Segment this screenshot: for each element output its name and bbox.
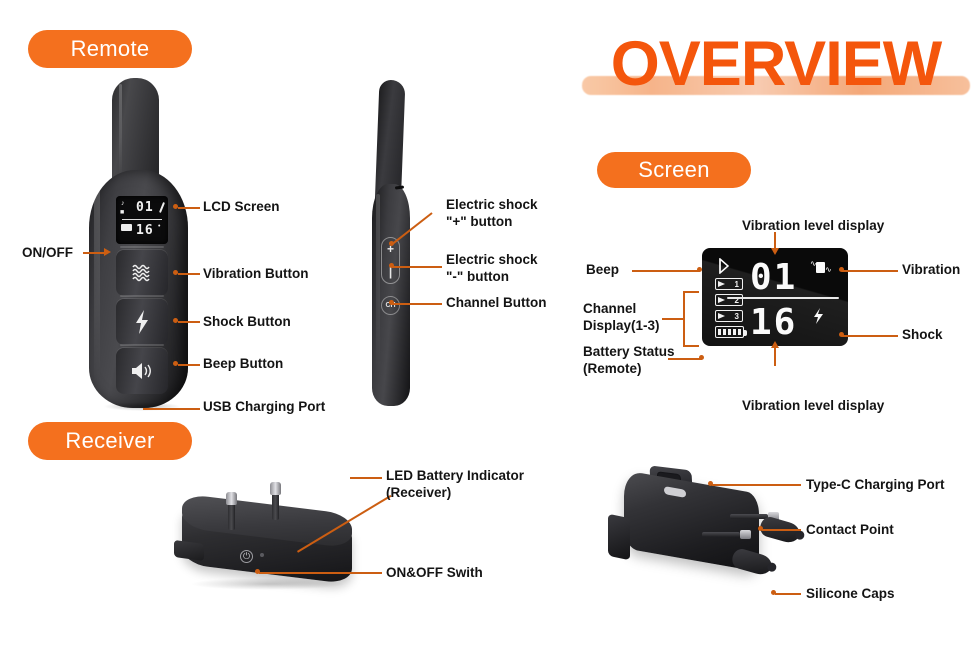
connector-dot bbox=[389, 263, 394, 268]
contact-prong-2 bbox=[270, 482, 281, 518]
connector-channel-bracket bbox=[683, 291, 685, 347]
connector-lcd-screen bbox=[178, 207, 200, 209]
connector-on-off-switch bbox=[259, 572, 382, 574]
remote-side-body bbox=[372, 184, 410, 406]
label-shock-minus-line1: Electric shock bbox=[446, 252, 538, 268]
lightning-bolt-icon bbox=[133, 309, 151, 335]
connector-type-c-port bbox=[712, 484, 801, 486]
overview-headline: OVERVIEW bbox=[580, 28, 972, 100]
connector-dot bbox=[173, 204, 178, 209]
connector-vibration-bottom bbox=[774, 346, 776, 366]
connector-on-off bbox=[83, 252, 105, 254]
label-on-off: ON/OFF bbox=[22, 245, 73, 261]
connector-dot bbox=[173, 361, 178, 366]
receiver-left-illustration: ⏻ bbox=[160, 470, 375, 605]
connector-silicone-caps bbox=[775, 593, 801, 595]
label-led-battery-line1: LED Battery Indicator bbox=[386, 468, 524, 484]
speaker-icon bbox=[129, 360, 155, 382]
connector-usb-port bbox=[143, 408, 200, 410]
receiver-strap-clip bbox=[174, 540, 204, 561]
connector-channel-button bbox=[392, 303, 442, 305]
connector-channel-bottom bbox=[683, 345, 699, 347]
channel-button[interactable]: CH bbox=[381, 296, 400, 315]
label-shock: Shock bbox=[902, 327, 943, 343]
silicone-cap-2 bbox=[730, 547, 774, 577]
label-vibration-level-top: Vibration level display bbox=[742, 218, 884, 234]
contact-prong-1 bbox=[226, 492, 237, 528]
label-silicone-caps: Silicone Caps bbox=[806, 586, 895, 602]
label-vibration: Vibration bbox=[902, 262, 960, 278]
connector-beep-button bbox=[178, 364, 200, 366]
beep-button[interactable] bbox=[116, 348, 168, 394]
power-button-icon[interactable]: ⏻ bbox=[240, 550, 253, 563]
receiver-right-strap-clip bbox=[608, 514, 630, 561]
label-battery-status-line2: (Remote) bbox=[583, 361, 642, 377]
lcd-display-diagram: 1 2 3 01 16 ∿ ∿ bbox=[702, 248, 848, 346]
label-beep-button: Beep Button bbox=[203, 356, 283, 372]
connector-dot bbox=[708, 481, 713, 486]
label-battery-status-line1: Battery Status bbox=[583, 344, 675, 360]
label-type-c-port: Type-C Charging Port bbox=[806, 477, 945, 493]
label-usb-port: USB Charging Port bbox=[203, 399, 325, 415]
page-title: OVERVIEW bbox=[580, 28, 972, 100]
label-on-off-switch: ON&OFF Swith bbox=[386, 565, 483, 581]
label-shock-plus-line2: "+" button bbox=[446, 214, 512, 230]
connector-led-battery-h bbox=[350, 477, 382, 479]
section-pill-receiver-label: Receiver bbox=[65, 428, 154, 454]
section-pill-screen: Screen bbox=[597, 152, 751, 188]
remote-lcd-top-value: 01 bbox=[136, 200, 154, 215]
connector-dot bbox=[389, 300, 394, 305]
vibration-icon bbox=[131, 262, 153, 284]
label-shock-minus-line2: "-" button bbox=[446, 269, 509, 285]
connector-dot bbox=[839, 332, 844, 337]
label-vibration-button: Vibration Button bbox=[203, 266, 309, 282]
connector-dot bbox=[389, 241, 394, 246]
label-channel-display-line2: Display(1-3) bbox=[583, 318, 660, 334]
contact-point-2 bbox=[702, 530, 752, 539]
connector-dot bbox=[758, 526, 763, 531]
label-channel-display-line1: Channel bbox=[583, 301, 636, 317]
label-beep: Beep bbox=[586, 262, 619, 278]
label-lcd-screen: LCD Screen bbox=[203, 199, 280, 215]
connector-arrow bbox=[104, 248, 111, 256]
label-shock-button: Shock Button bbox=[203, 314, 291, 330]
connector-shock-button bbox=[178, 321, 200, 323]
connector-arrow bbox=[771, 248, 779, 255]
connector-arrow bbox=[771, 341, 779, 348]
connector-shock-minus bbox=[392, 266, 442, 268]
connector-vibration-right bbox=[842, 270, 898, 272]
label-shock-plus-line1: Electric shock bbox=[446, 197, 538, 213]
connector-dot bbox=[839, 267, 844, 272]
connector-vibration-button bbox=[178, 273, 200, 275]
connector-contact-point bbox=[762, 529, 801, 531]
shock-button[interactable] bbox=[116, 299, 168, 345]
connector-shock-right bbox=[842, 335, 898, 337]
led-indicator bbox=[260, 553, 264, 557]
remote-front-illustration: ♪ ■ 01 16 • bbox=[83, 78, 193, 408]
section-pill-remote-label: Remote bbox=[71, 36, 150, 62]
connector-dot bbox=[173, 318, 178, 323]
connector-channel-stem bbox=[662, 318, 683, 320]
section-pill-screen-label: Screen bbox=[638, 157, 710, 183]
connector-beep bbox=[632, 270, 700, 272]
connector-dot bbox=[699, 355, 704, 360]
section-pill-receiver: Receiver bbox=[28, 422, 192, 460]
receiver-right-illustration bbox=[602, 462, 832, 602]
label-vibration-level-bottom: Vibration level display bbox=[742, 398, 884, 414]
connector-dot bbox=[771, 590, 776, 595]
connector-dot bbox=[173, 270, 178, 275]
connector-dot bbox=[255, 569, 260, 574]
label-led-battery-line2: (Receiver) bbox=[386, 485, 451, 501]
label-contact-point: Contact Point bbox=[806, 522, 894, 538]
vibration-button[interactable] bbox=[116, 250, 168, 296]
connector-dot bbox=[697, 267, 702, 272]
connector-channel-top bbox=[683, 291, 699, 293]
label-channel-button: Channel Button bbox=[446, 295, 547, 311]
remote-lcd-bottom-value: 16 bbox=[136, 223, 154, 238]
section-pill-remote: Remote bbox=[28, 30, 192, 68]
remote-lcd-screen: ♪ ■ 01 16 • bbox=[116, 196, 168, 244]
